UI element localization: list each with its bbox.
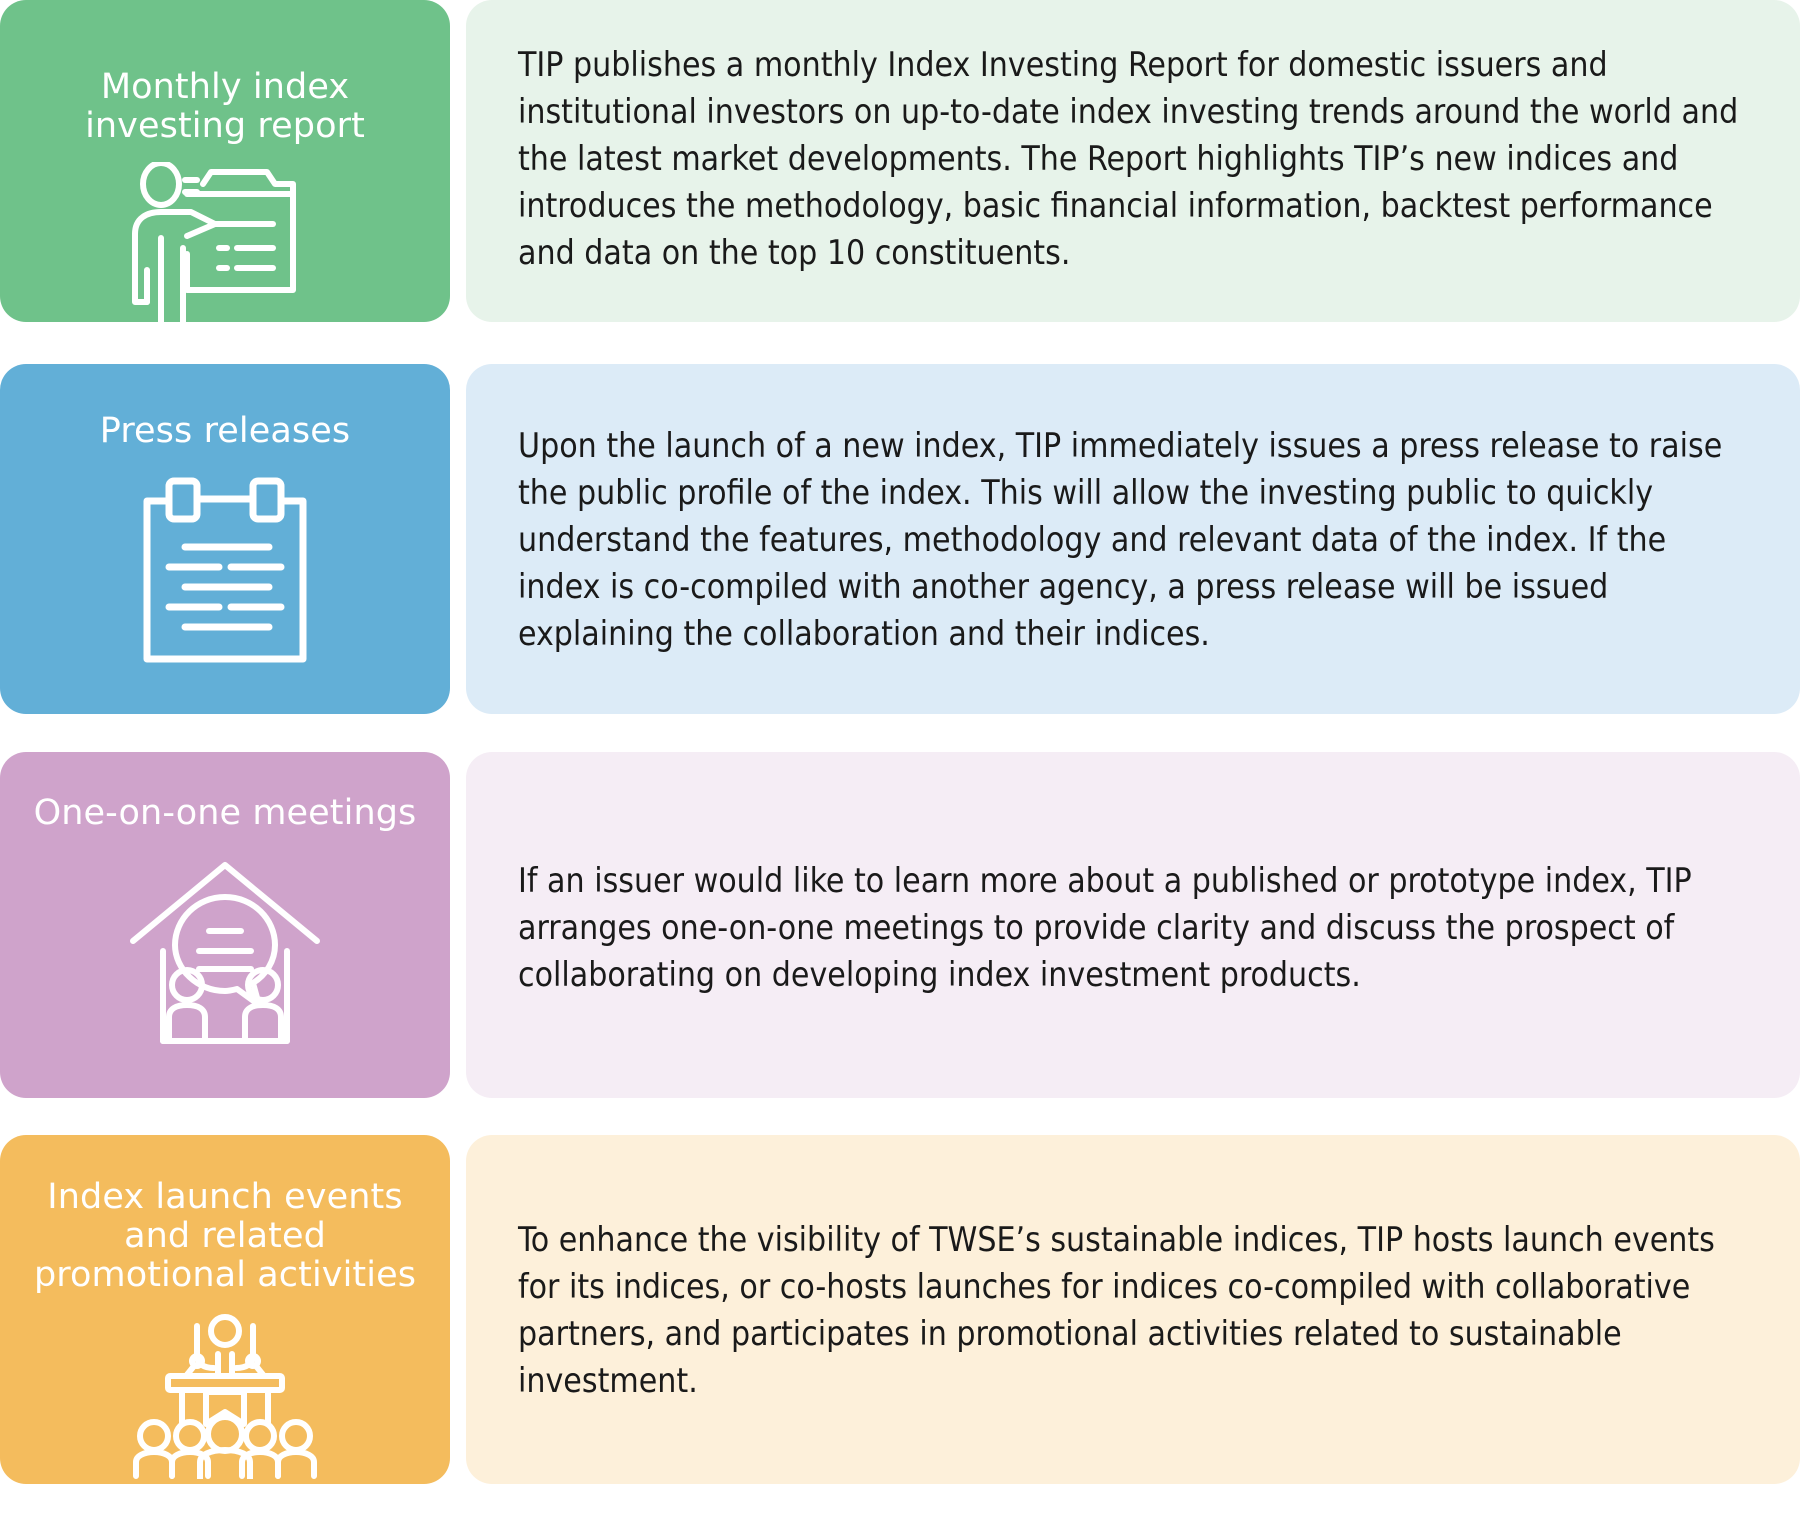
panel-press-releases: Upon the launch of a new index, TIP imme…: [466, 364, 1800, 714]
panel-body-text: Upon the launch of a new index, TIP imme…: [518, 422, 1754, 657]
card-index-launch-events[interactable]: Index launch events and related promotio…: [0, 1135, 450, 1484]
card-title: One-on-one meetings: [16, 794, 435, 833]
info-row-one-on-one-meetings: One-on-one meetings: [0, 752, 1800, 1135]
info-row-index-launch-events: Index launch events and related promotio…: [0, 1135, 1800, 1522]
panel-monthly-index-investing-report: TIP publishes a monthly Index Investing …: [466, 0, 1800, 322]
panel-body-text: TIP publishes a monthly Index Investing …: [518, 41, 1754, 276]
panel-body-text: If an issuer would like to learn more ab…: [518, 857, 1754, 998]
card-title: Index launch events and related promotio…: [16, 1178, 434, 1296]
panel-index-launch-events: To enhance the visibility of TWSE’s sust…: [466, 1135, 1800, 1484]
info-cards-board: Monthly index investing report: [0, 0, 1800, 1522]
card-title: Monthly index investing report: [67, 68, 383, 146]
house-conversation-icon: [125, 855, 325, 1045]
panel-one-on-one-meetings: If an issuer would like to learn more ab…: [466, 752, 1800, 1098]
panel-body-text: To enhance the visibility of TWSE’s sust…: [518, 1216, 1754, 1404]
card-one-on-one-meetings[interactable]: One-on-one meetings: [0, 752, 450, 1098]
info-row-press-releases: Press releases: [0, 364, 1800, 752]
launch-event-audience-icon: [130, 1314, 320, 1479]
clipboard-document-icon: [135, 473, 315, 663]
card-press-releases[interactable]: Press releases: [0, 364, 450, 714]
card-monthly-index-investing-report[interactable]: Monthly index investing report: [0, 0, 450, 322]
info-row-monthly-index-investing-report: Monthly index investing report: [0, 0, 1800, 364]
card-title: Press releases: [82, 412, 369, 451]
presenter-whiteboard-icon: [125, 162, 325, 322]
